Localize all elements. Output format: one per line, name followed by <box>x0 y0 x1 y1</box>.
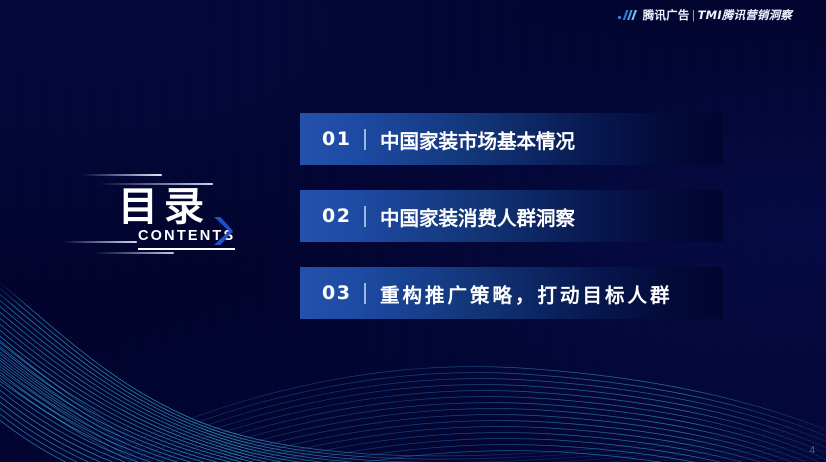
brand-separator: | <box>692 8 696 22</box>
decor-line-4 <box>94 252 174 254</box>
product-name: TMI腾讯营销洞察 <box>698 8 792 22</box>
agenda-item-02[interactable]: 02 中国家装消费人群洞察 <box>300 190 723 242</box>
brand-logo: 腾讯广告|TMI腾讯营销洞察 <box>617 7 792 23</box>
tencent-ads-logo-icon <box>617 8 637 22</box>
page-number: 4 <box>809 445 815 456</box>
decor-line-3 <box>62 241 137 243</box>
agenda-divider <box>364 283 366 304</box>
agenda-divider <box>364 206 366 227</box>
decor-line-1 <box>82 174 162 176</box>
agenda-item-01[interactable]: 01 中国家装市场基本情况 <box>300 113 723 165</box>
slide-canvas: 腾讯广告|TMI腾讯营销洞察 目录 CONTENTS 01 中国家装市场基本情况… <box>0 0 826 462</box>
agenda-number: 02 <box>322 205 351 227</box>
agenda-list: 01 中国家装市场基本情况 02 中国家装消费人群洞察 03 重构推广策略，打动… <box>300 113 723 319</box>
page-title: 目录 <box>118 185 210 229</box>
agenda-label: 中国家装市场基本情况 <box>380 125 575 154</box>
agenda-label: 重构推广策略，打动目标人群 <box>380 279 673 308</box>
agenda-item-03[interactable]: 03 重构推广策略，打动目标人群 <box>300 267 723 319</box>
brand-name: 腾讯广告 <box>643 8 690 22</box>
section-title-block: 目录 CONTENTS <box>60 160 290 270</box>
agenda-number: 01 <box>322 128 351 150</box>
chevron-right-icon <box>212 216 234 246</box>
agenda-divider <box>364 129 366 150</box>
agenda-label: 中国家装消费人群洞察 <box>380 202 575 231</box>
agenda-number: 03 <box>322 282 351 304</box>
brand-logo-text: 腾讯广告|TMI腾讯营销洞察 <box>643 7 792 23</box>
